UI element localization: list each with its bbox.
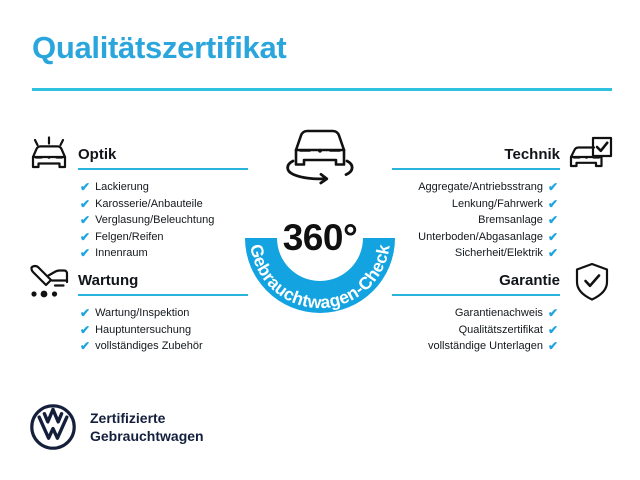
check-icon: ✔	[548, 181, 558, 193]
list-item-label: Hauptuntersuchung	[95, 322, 191, 339]
list-item: ✔vollständige Unterlagen	[392, 338, 558, 355]
list-item: ✔Aggregate/Antriebsstrang	[392, 179, 558, 196]
list-item-label: Aggregate/Antriebsstrang	[418, 179, 543, 196]
section-title-optik: Optik	[78, 146, 248, 164]
car-rotate-360-icon	[277, 114, 363, 188]
page-title: Qualitätszertifikat	[32, 30, 286, 66]
list-item: ✔Felgen/Reifen	[80, 229, 248, 246]
check-icon: ✔	[548, 214, 558, 226]
list-item-label: Innenraum	[95, 245, 148, 262]
list-item: ✔Verglasung/Beleuchtung	[80, 212, 248, 229]
list-item: ✔Qualitätszertifikat	[392, 322, 558, 339]
section-divider-optik	[78, 168, 248, 170]
section-optik: Optik ✔Lackierung✔Karosserie/Anbauteile✔…	[78, 146, 248, 262]
check-icon: ✔	[548, 231, 558, 243]
vw-logo	[30, 404, 76, 450]
header-divider	[32, 88, 612, 91]
list-item-label: vollständige Unterlagen	[428, 338, 543, 355]
list-item-label: vollständiges Zubehör	[95, 338, 203, 355]
vw-footer: Zertifizierte Gebrauchtwagen	[30, 404, 204, 450]
section-title-technik: Technik	[392, 146, 560, 164]
list-item-label: Garantienachweis	[455, 305, 543, 322]
list-item: ✔Unterboden/Abgasanlage	[392, 229, 558, 246]
list-item-label: Felgen/Reifen	[95, 229, 164, 246]
section-title-garantie: Garantie	[392, 272, 560, 290]
gebrauchtwagen-check-badge: Gebrauchtwagen-Check 360°	[232, 150, 408, 326]
list-item: ✔vollständiges Zubehör	[80, 338, 248, 355]
list-item: ✔Sicherheit/Elektrik	[392, 245, 558, 262]
list-item: ✔Karosserie/Anbauteile	[80, 196, 248, 213]
list-item-label: Lackierung	[95, 179, 149, 196]
checklist-wartung: ✔Wartung/Inspektion✔Hauptuntersuchung✔vo…	[80, 305, 248, 355]
section-technik: Technik ✔Aggregate/Antriebsstrang✔Lenkun…	[392, 146, 560, 262]
check-icon: ✔	[80, 198, 90, 210]
list-item: ✔Wartung/Inspektion	[80, 305, 248, 322]
list-item-label: Lenkung/Fahrwerk	[452, 196, 543, 213]
check-icon: ✔	[80, 324, 90, 336]
car-checkbox-icon	[568, 134, 614, 178]
list-item: ✔Lenkung/Fahrwerk	[392, 196, 558, 213]
list-item-label: Qualitätszertifikat	[459, 322, 543, 339]
car-shine-icon	[26, 134, 72, 178]
list-item-label: Sicherheit/Elektrik	[455, 245, 543, 262]
list-item-label: Bremsanlage	[478, 212, 543, 229]
section-wartung: Wartung ✔Wartung/Inspektion✔Hauptuntersu…	[78, 272, 248, 355]
checklist-optik: ✔Lackierung✔Karosserie/Anbauteile✔Vergla…	[80, 179, 248, 262]
list-item: ✔Hauptuntersuchung	[80, 322, 248, 339]
check-icon: ✔	[80, 340, 90, 352]
check-icon: ✔	[80, 247, 90, 259]
list-item-label: Wartung/Inspektion	[95, 305, 189, 322]
list-item: ✔Garantienachweis	[392, 305, 558, 322]
quality-certificate-page: Qualitätszertifikat Optik ✔Lackierung✔Ka…	[0, 0, 640, 480]
check-icon: ✔	[80, 231, 90, 243]
wrench-car-icon	[26, 260, 72, 304]
check-icon: ✔	[548, 324, 558, 336]
check-icon: ✔	[80, 181, 90, 193]
list-item-label: Karosserie/Anbauteile	[95, 196, 203, 213]
section-garantie: Garantie ✔Garantienachweis✔Qualitätszert…	[392, 272, 560, 355]
list-item: ✔Lackierung	[80, 179, 248, 196]
section-divider-technik	[392, 168, 560, 170]
check-icon: ✔	[548, 307, 558, 319]
check-icon: ✔	[80, 214, 90, 226]
check-icon: ✔	[80, 307, 90, 319]
section-title-wartung: Wartung	[78, 272, 248, 290]
checklist-technik: ✔Aggregate/Antriebsstrang✔Lenkung/Fahrwe…	[392, 179, 558, 262]
check-icon: ✔	[548, 198, 558, 210]
check-icon: ✔	[548, 247, 558, 259]
section-divider-wartung	[78, 294, 248, 296]
shield-check-icon	[570, 260, 616, 304]
list-item-label: Unterboden/Abgasanlage	[418, 229, 543, 246]
section-divider-garantie	[392, 294, 560, 296]
check-icon: ✔	[548, 340, 558, 352]
list-item-label: Verglasung/Beleuchtung	[95, 212, 214, 229]
list-item: ✔Innenraum	[80, 245, 248, 262]
checklist-garantie: ✔Garantienachweis✔Qualitätszertifikat✔vo…	[392, 305, 558, 355]
list-item: ✔Bremsanlage	[392, 212, 558, 229]
vw-footer-text: Zertifizierte Gebrauchtwagen	[90, 409, 204, 445]
